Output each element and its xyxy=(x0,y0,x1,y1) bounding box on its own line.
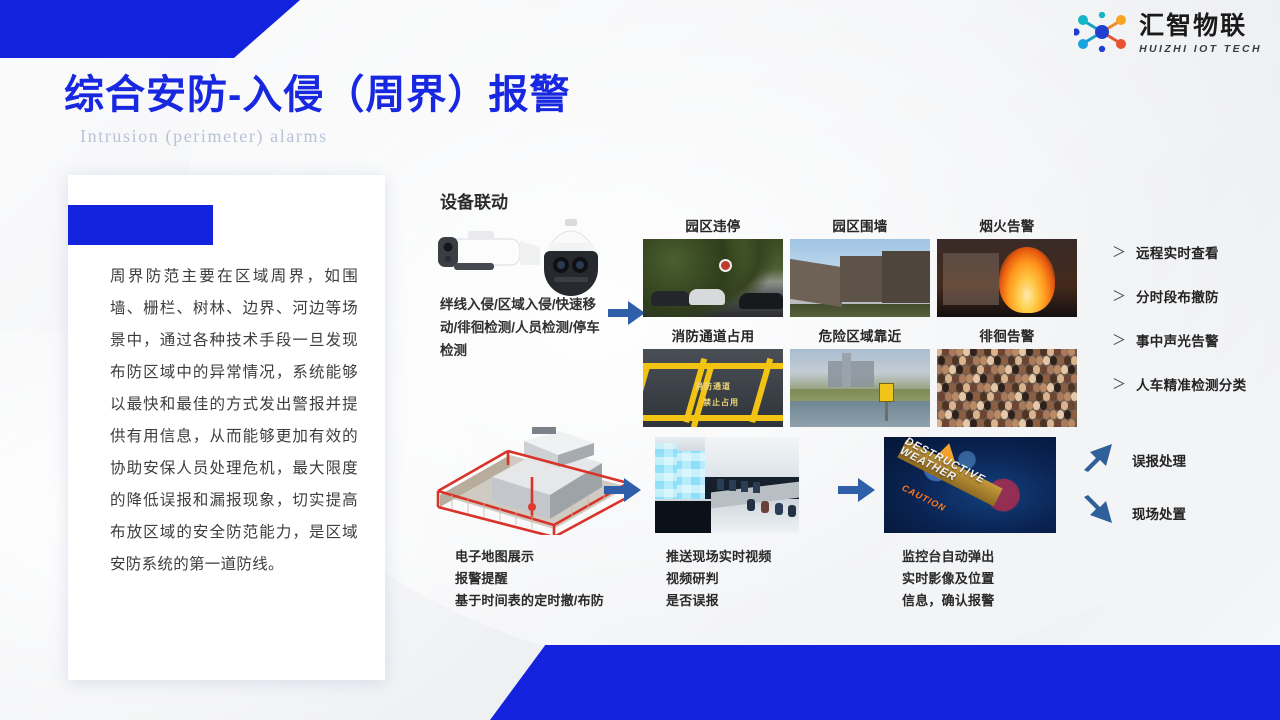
scenario-label: 徘徊告警 xyxy=(937,325,1077,345)
logo-english-name: HUIZHI IOT TECH xyxy=(1139,44,1262,55)
card-badge xyxy=(68,205,213,245)
scenario-label: 危险区域靠近 xyxy=(790,325,930,345)
scenario-thumbnail-hazard-zone xyxy=(790,349,930,427)
device-linkage-caption: 绊线入侵/区域入侵/快速移动/徘徊检测/人员检测/停车检测 xyxy=(440,293,602,362)
description-card: 周界防范主要在区域周界，如围墙、栅栏、树林、边界、河边等场景中，通过各种技术手段… xyxy=(68,175,385,680)
camera-devices-group xyxy=(428,215,608,305)
scenario-cell[interactable]: 烟火告警 xyxy=(937,215,1077,317)
capability-list: ＞ 远程实时查看 ＞ 分时段布撤防 ＞ 事中声光告警 ＞ 人车精准检测分类 xyxy=(1112,236,1246,412)
flow-step-caption-3: 监控台自动弹出 实时影像及位置 信息，确认报警 xyxy=(902,546,994,612)
molecule-node-icon xyxy=(1074,12,1130,57)
scenario-thumbnail-perimeter-wall xyxy=(790,239,930,317)
card-body-text: 周界防范主要在区域周界，如围墙、栅栏、树林、边界、河边等场景中，通过各种技术手段… xyxy=(110,261,358,581)
chevron-right-icon: ＞ xyxy=(1112,374,1126,394)
capability-label: 事中声光告警 xyxy=(1136,330,1219,350)
flow-step-caption-2: 推送现场实时视频 视频研判 是否误报 xyxy=(666,546,772,612)
capability-item[interactable]: ＞ 人车精准检测分类 xyxy=(1112,368,1246,399)
scenario-cell[interactable]: 园区违停 xyxy=(643,215,783,317)
capability-item[interactable]: ＞ 分时段布撤防 xyxy=(1112,280,1246,311)
scenario-cell[interactable]: 园区围墙 xyxy=(790,215,930,317)
arrow-up-right-icon xyxy=(1082,442,1116,477)
logo-chinese-name: 汇智物联 xyxy=(1139,14,1262,39)
scenario-label: 园区围墙 xyxy=(790,215,930,235)
arrow-down-right-icon xyxy=(1082,495,1116,530)
bullet-camera-icon xyxy=(438,231,540,270)
capability-label: 人车精准检测分类 xyxy=(1136,374,1246,394)
brand-logo: 汇智物联 HUIZHI IOT TECH xyxy=(1074,12,1262,57)
device-linkage-title: 设备联动 xyxy=(440,188,508,213)
scenario-thumbnail-fire-lane: 消防通道 禁止占用 xyxy=(643,349,783,427)
capability-label: 分时段布撤防 xyxy=(1136,286,1219,306)
outcome-item-false-alarm[interactable]: 误报处理 xyxy=(1082,442,1186,477)
outcome-label: 现场处置 xyxy=(1132,503,1186,523)
scenario-thumbnail-loitering-crowd xyxy=(937,349,1077,427)
flow-arrow-right-1 xyxy=(608,299,646,327)
chevron-right-icon: ＞ xyxy=(1112,330,1126,350)
scenario-label: 园区违停 xyxy=(643,215,783,235)
scenario-label: 烟火告警 xyxy=(937,215,1077,235)
flow-step-caption-1: 电子地图展示 报警提醒 基于时间表的定时撤/布防 xyxy=(455,546,604,612)
capability-item[interactable]: ＞ 事中声光告警 xyxy=(1112,324,1246,355)
scenario-cell[interactable]: 徘徊告警 xyxy=(937,325,1077,427)
control-room-video-wall-image xyxy=(655,437,799,533)
bottom-right-accent-shape xyxy=(490,645,1280,720)
ptz-dome-camera-icon xyxy=(544,219,598,296)
alarm-popup-monitor-image: DESTRUCTIVE WEATHER CAUTION xyxy=(884,437,1056,533)
chevron-right-icon: ＞ xyxy=(1112,286,1126,306)
flow-arrow-right-2 xyxy=(604,476,642,504)
scenario-thumbnail-park-violation xyxy=(643,239,783,317)
outcome-item-onsite-handling[interactable]: 现场处置 xyxy=(1082,495,1186,530)
page-title: 综合安防-入侵（周界）报警 xyxy=(64,62,570,120)
chevron-right-icon: ＞ xyxy=(1112,242,1126,262)
capability-label: 远程实时查看 xyxy=(1136,242,1219,262)
scenario-cell[interactable]: 消防通道占用 消防通道 禁止占用 xyxy=(643,325,783,427)
scenario-thumbnail-fire-smoke xyxy=(937,239,1077,317)
outcome-label: 误报处理 xyxy=(1132,450,1186,470)
capability-item[interactable]: ＞ 远程实时查看 xyxy=(1112,236,1246,267)
scenario-cell[interactable]: 危险区域靠近 xyxy=(790,325,930,427)
flow-arrow-right-3 xyxy=(838,476,876,504)
page-subtitle: Intrusion (perimeter) alarms xyxy=(80,126,328,147)
scenario-label: 消防通道占用 xyxy=(643,325,783,345)
